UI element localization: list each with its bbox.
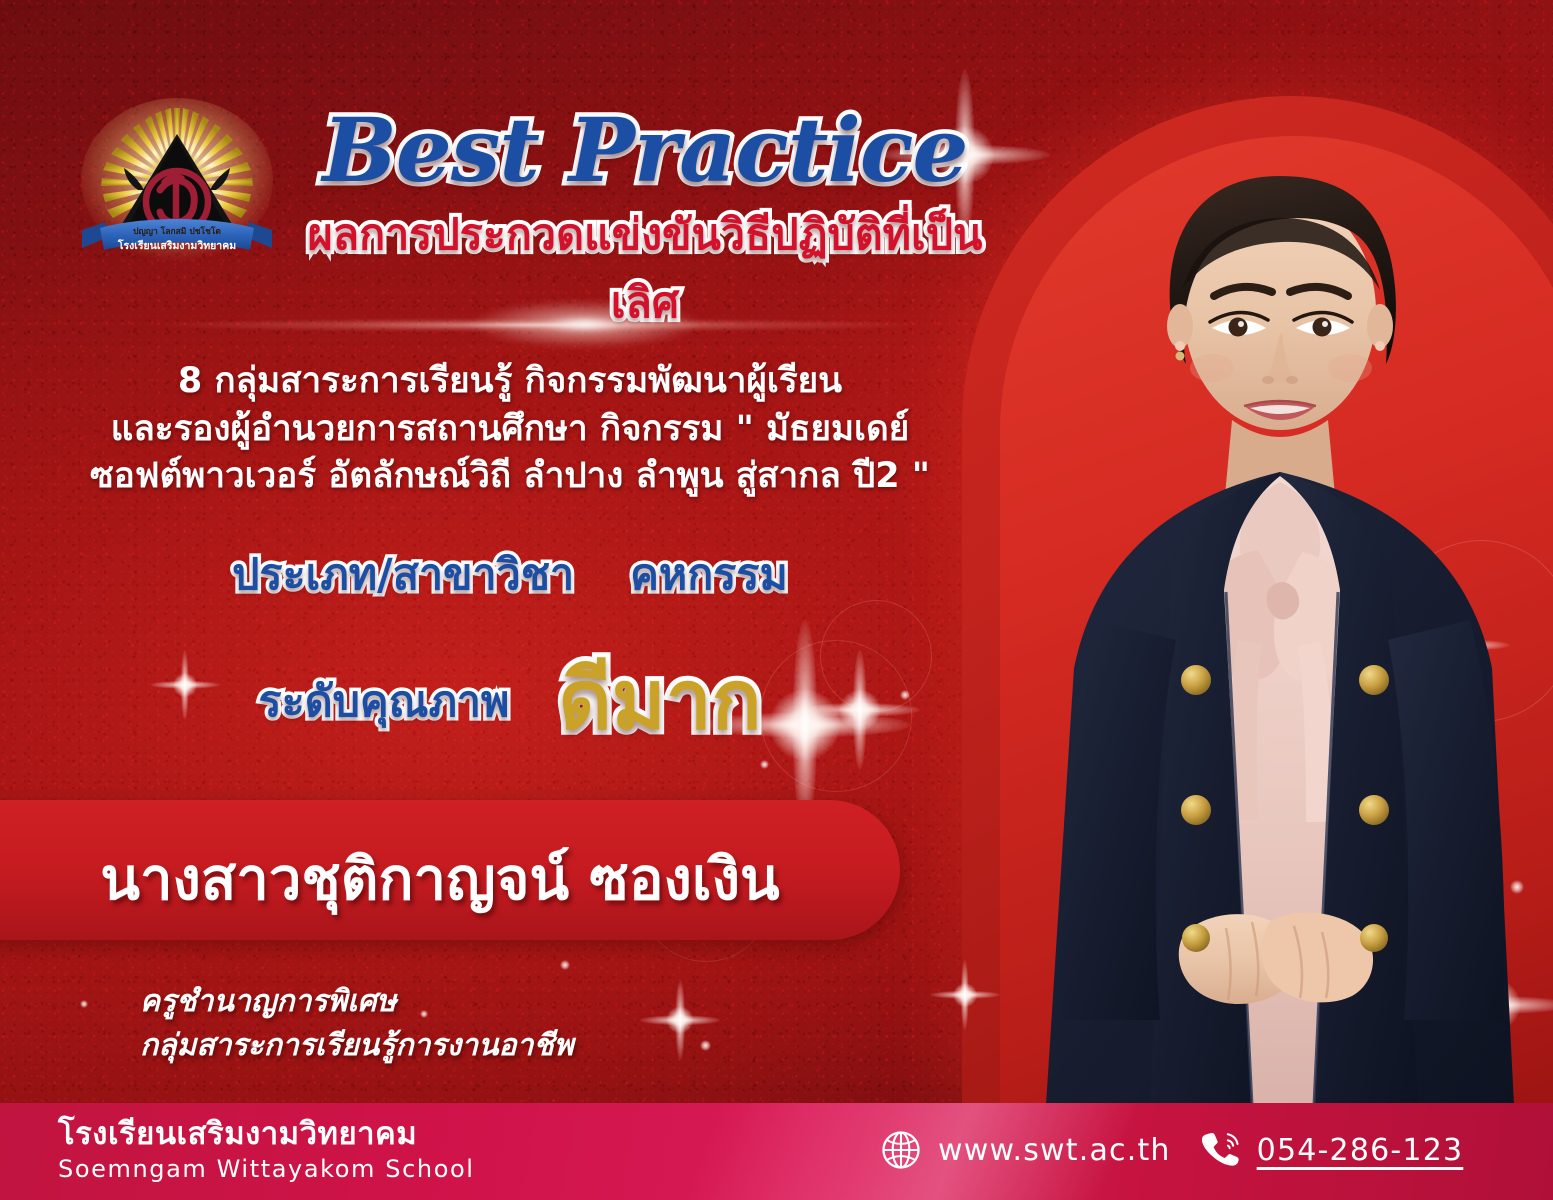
crest-school-text: โรงเรียนเสริมงามวิทยาคม — [117, 239, 236, 252]
category-label: ประเภท/สาขาวิชา — [232, 550, 574, 600]
crest-motto-text: ปญญา โลกสมิ ปชโชโต — [133, 226, 221, 237]
page-title-thai: ผลการประกวดแข่งขันวิธีปฏิบัติที่เป็นเลิศ — [290, 200, 1000, 336]
quality-level-value: ดีมาก — [559, 660, 762, 742]
description-line-1: 8 กลุ่มสาระการเรียนรู้ กิจกรรมพัฒนาผู้เร… — [70, 358, 950, 406]
awardee-position-block: ครูชำนาญการพิเศษ กลุ่มสาระการเรียนรู้การ… — [140, 980, 574, 1067]
category-value: คหกรรม — [630, 550, 788, 600]
page-title-english: Best Practice — [300, 98, 990, 202]
footer-school-identity: โรงเรียนเสริมงามวิทยาคม Soemngam Wittaya… — [58, 1117, 475, 1183]
category-row: ประเภท/สาขาวิชา คหกรรม — [70, 540, 950, 608]
footer-bar: โรงเรียนเสริมงามวิทยาคม Soemngam Wittaya… — [0, 1103, 1553, 1200]
quality-level-row: ระดับคุณภาพ ดีมาก — [70, 660, 950, 742]
awardee-portrait — [1000, 120, 1553, 1105]
footer-school-name-thai: โรงเรียนเสริมงามวิทยาคม — [58, 1117, 475, 1152]
footer-school-name-english: Soemngam Wittayakom School — [58, 1155, 475, 1183]
description-line-3: ซอฟต์พาวเวอร์ อัตลักษณ์วิถี ลำปาง ลำพูน … — [70, 453, 950, 501]
awardee-department: กลุ่มสาระการเรียนรู้การงานอาชีพ — [140, 1024, 574, 1068]
awardee-name: นางสาวชุติกาญจน์ ซองเงิน — [0, 832, 880, 925]
footer-contact-group: www.swt.ac.th 054-286-123 — [880, 1129, 1463, 1171]
phone-contact[interactable]: 054-286-123 — [1199, 1129, 1464, 1171]
award-poster: ปญญา โลกสมิ ปชโชโต โรงเรียนเสริมงามวิทยา… — [0, 0, 1553, 1200]
globe-icon — [880, 1129, 922, 1171]
phone-icon — [1199, 1129, 1241, 1171]
awardee-position: ครูชำนาญการพิเศษ — [140, 980, 574, 1024]
school-crest-logo: ปญญา โลกสมิ ปชโชโต โรงเรียนเสริมงามวิทยา… — [72, 98, 282, 274]
description-line-2: และรองผู้อำนวยการสถานศึกษา กิจกรรม " มัธ… — [70, 406, 950, 454]
quality-level-label: ระดับคุณภาพ — [259, 677, 510, 727]
phone-number: 054-286-123 — [1257, 1133, 1464, 1168]
description-block: 8 กลุ่มสาระการเรียนรู้ กิจกรรมพัฒนาผู้เร… — [70, 358, 950, 501]
website-contact[interactable]: www.swt.ac.th — [880, 1129, 1171, 1171]
website-url: www.swt.ac.th — [938, 1133, 1171, 1168]
